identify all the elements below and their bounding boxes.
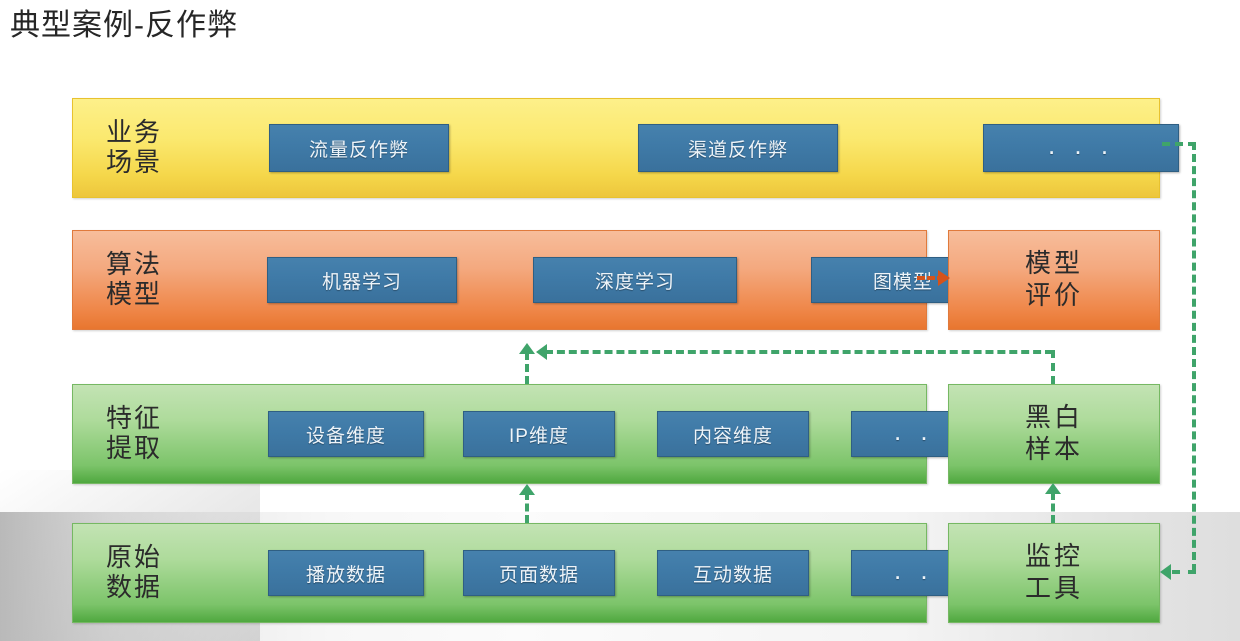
- page-title: 典型案例-反作弊: [10, 6, 238, 46]
- connector-raw-to-feature-line: [525, 492, 529, 523]
- connector-monitor-to-sample-arrowhead: [1045, 483, 1061, 494]
- connector-loop-arrowhead: [1160, 564, 1171, 580]
- connector-loop-right-vertical: [1192, 142, 1196, 572]
- band-items-raw-data: 播放数据 页面数据 互动数据 . . .: [173, 524, 926, 622]
- connector-raw-to-feature-arrowhead: [519, 484, 535, 495]
- band-label-algorithm-model: 算法 模型: [95, 250, 173, 310]
- connector-sample-feed-arrowhead: [536, 344, 547, 360]
- slide-canvas: 典型案例-反作弊 业务 场景 流量反作弊 渠道反作弊 . . . 算法 模型 机…: [0, 0, 1240, 641]
- chip-playback-data[interactable]: 播放数据: [268, 550, 424, 596]
- chip-content-dimension[interactable]: 内容维度: [657, 411, 809, 457]
- connector-sample-feed-vertical: [1051, 350, 1055, 384]
- chip-machine-learning[interactable]: 机器学习: [267, 257, 457, 303]
- connector-loop-bottom-horizontal: [1172, 570, 1196, 574]
- chip-interaction-data[interactable]: 互动数据: [657, 550, 809, 596]
- band-label-raw-data: 原始 数据: [95, 543, 173, 603]
- connector-feature-to-model-arrowhead: [519, 343, 535, 354]
- band-items-algorithm-model: 机器学习 深度学习 图模型: [173, 231, 926, 329]
- band-algorithm-model: 算法 模型 机器学习 深度学习 图模型: [72, 230, 927, 330]
- band-label-business-scenario: 业务 场景: [95, 118, 173, 178]
- connector-graph-model-to-evaluation-arrowhead: [938, 270, 950, 286]
- panel-monitoring-tool: 监控 工具: [948, 523, 1160, 623]
- connector-feature-to-model-line: [525, 352, 529, 384]
- chip-device-dimension[interactable]: 设备维度: [268, 411, 424, 457]
- band-feature-extraction: 特征 提取 设备维度 IP维度 内容维度 . . .: [72, 384, 927, 484]
- band-items-business-scenario: 流量反作弊 渠道反作弊 . . .: [173, 99, 1159, 197]
- chip-page-data[interactable]: 页面数据: [463, 550, 615, 596]
- chip-channel-anti-fraud[interactable]: 渠道反作弊: [638, 124, 838, 172]
- connector-monitor-to-sample-line: [1051, 492, 1055, 523]
- chip-ip-dimension[interactable]: IP维度: [463, 411, 615, 457]
- band-business-scenario: 业务 场景 流量反作弊 渠道反作弊 . . .: [72, 98, 1160, 198]
- panel-model-evaluation: 模型 评价: [948, 230, 1160, 330]
- connector-sample-feed-horizontal: [545, 350, 1053, 354]
- chip-more-scenarios[interactable]: . . .: [983, 124, 1179, 172]
- chip-deep-learning[interactable]: 深度学习: [533, 257, 737, 303]
- panel-black-white-sample: 黑白 样本: [948, 384, 1160, 484]
- band-items-feature-extraction: 设备维度 IP维度 内容维度 . . .: [173, 385, 926, 483]
- connector-loop-top-horizontal: [1162, 142, 1196, 146]
- chip-traffic-anti-fraud[interactable]: 流量反作弊: [269, 124, 449, 172]
- band-raw-data: 原始 数据 播放数据 页面数据 互动数据 . . .: [72, 523, 927, 623]
- band-label-feature-extraction: 特征 提取: [95, 404, 173, 464]
